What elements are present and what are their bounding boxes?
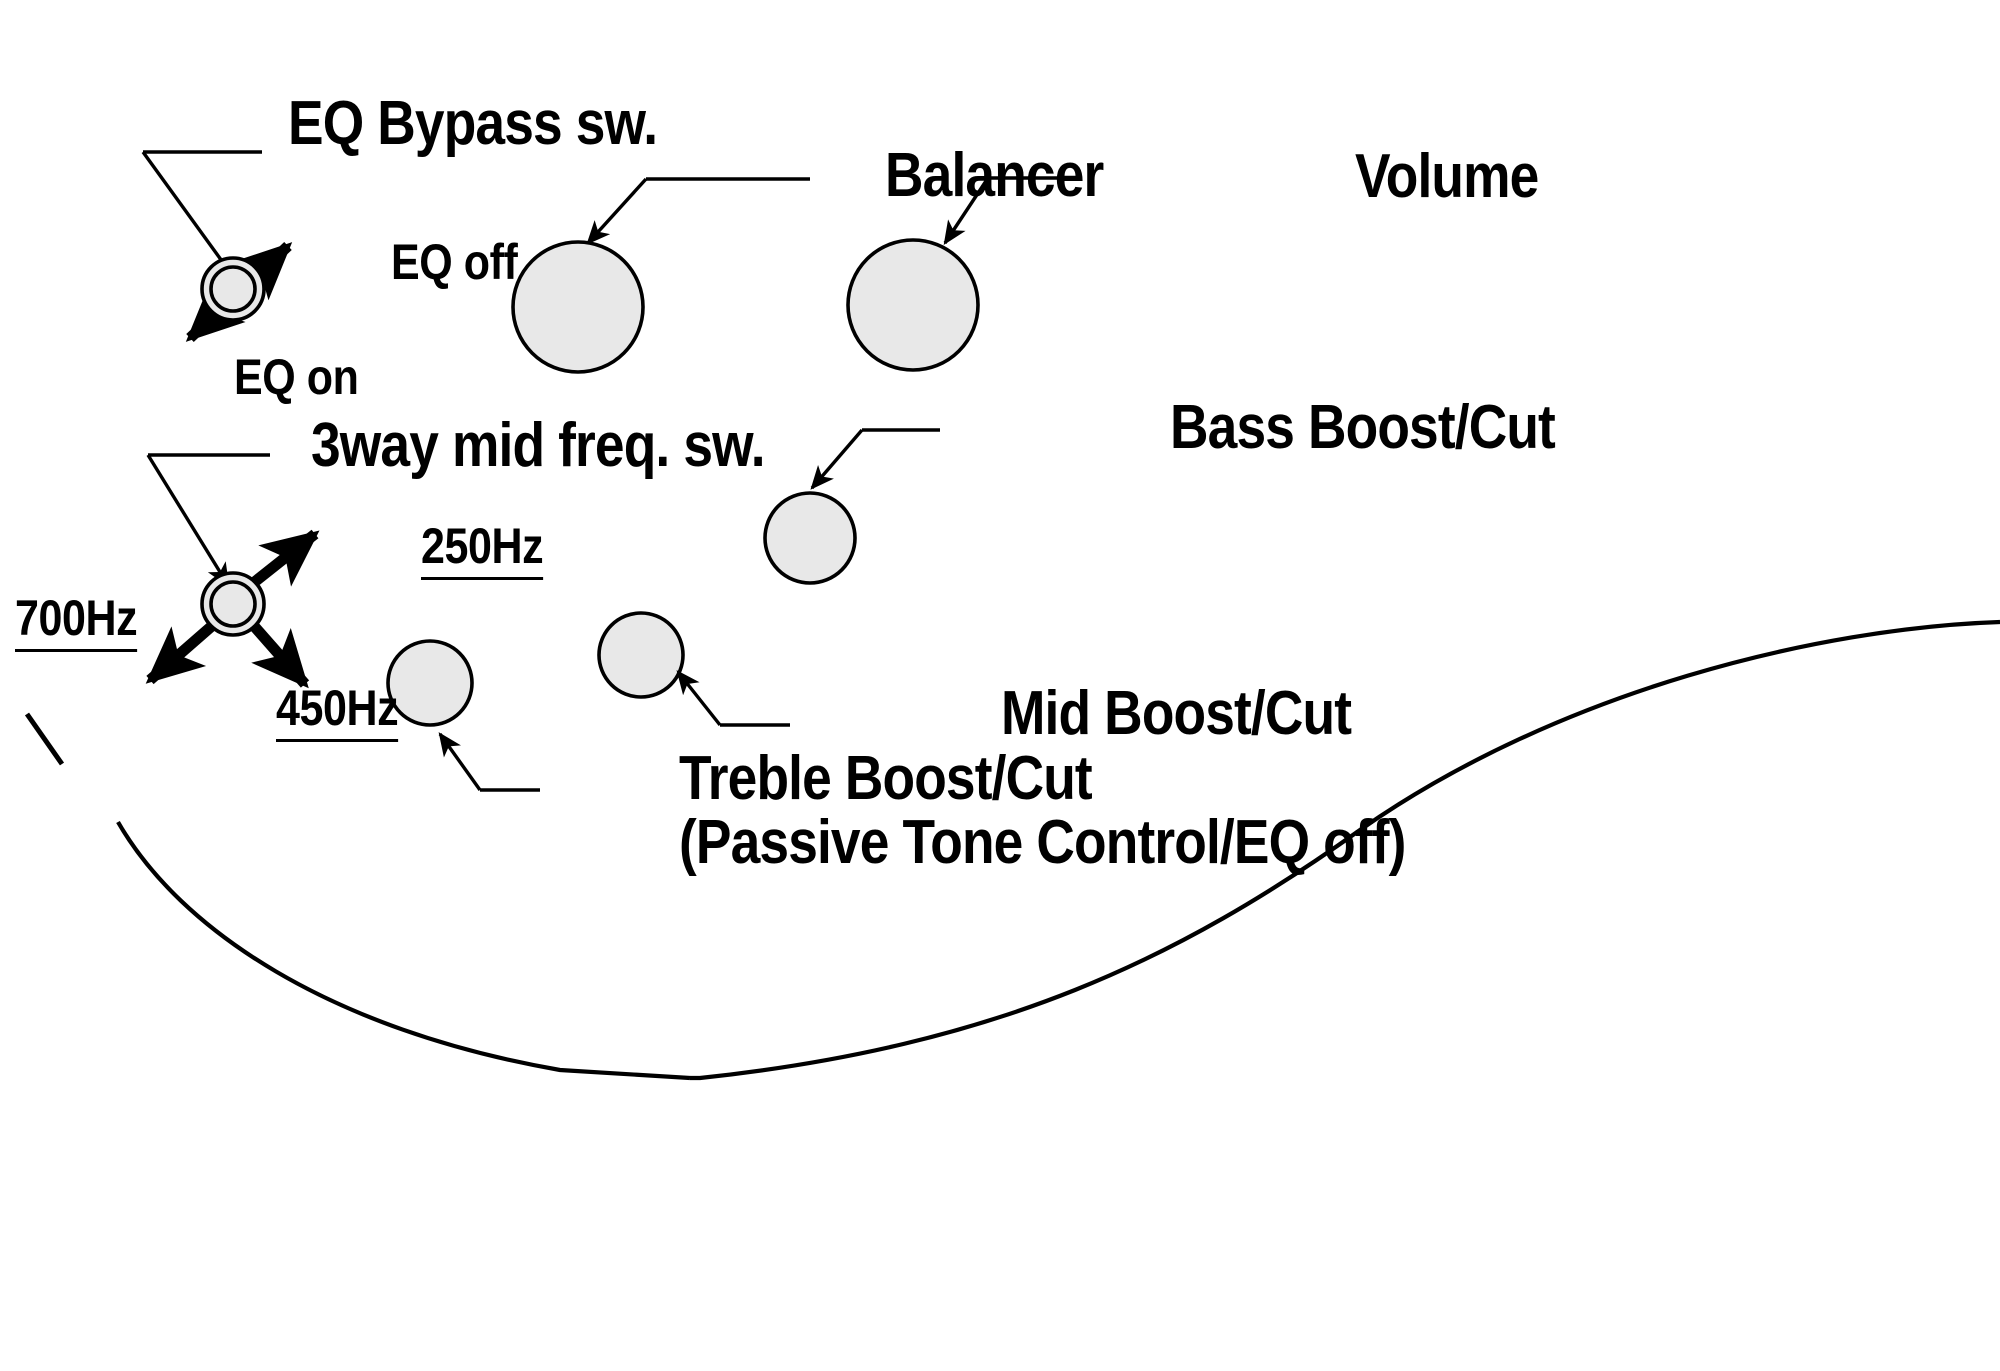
mid-freq-switch-inner[interactable] bbox=[211, 582, 255, 626]
leader-treble-arrow bbox=[440, 734, 480, 790]
label-volume: Volume bbox=[1355, 146, 1538, 208]
label-passive-tone-control: (Passive Tone Control/EQ off) bbox=[679, 812, 1406, 874]
bass-knob[interactable] bbox=[765, 493, 855, 583]
balancer-knob[interactable] bbox=[513, 242, 643, 372]
label-freq-700hz: 700Hz bbox=[15, 593, 137, 652]
label-eq-bypass-sw: EQ Bypass sw. bbox=[288, 93, 657, 155]
label-freq-250hz: 250Hz bbox=[421, 521, 543, 580]
volume-knob[interactable] bbox=[848, 240, 978, 370]
treble-knob[interactable] bbox=[388, 641, 472, 725]
leader-balancer-arrow bbox=[588, 179, 646, 243]
leader-mid-arrow bbox=[678, 672, 720, 725]
leader-midfreq-arrow bbox=[148, 455, 228, 585]
label-freq-450hz: 450Hz bbox=[276, 683, 398, 742]
midfreq-arrow-250 bbox=[252, 534, 315, 584]
body-outline-stub bbox=[27, 714, 62, 764]
midfreq-arrow-450 bbox=[254, 626, 305, 684]
label-3way-mid-freq-sw: 3way mid freq. sw. bbox=[311, 415, 765, 477]
label-eq-on: EQ on bbox=[234, 352, 358, 402]
label-eq-off: EQ off bbox=[391, 237, 517, 287]
label-mid-boost-cut: Mid Boost/Cut bbox=[1001, 683, 1351, 745]
label-bass-boost-cut: Bass Boost/Cut bbox=[1170, 397, 1555, 459]
diagram-canvas: EQ Bypass sw. EQ off EQ on Balancer Volu… bbox=[0, 0, 2000, 1371]
label-balancer: Balancer bbox=[885, 145, 1103, 207]
mid-knob[interactable] bbox=[599, 613, 683, 697]
body-outline-lower bbox=[118, 822, 690, 1078]
leader-bass-arrow bbox=[812, 430, 862, 488]
label-treble-boost-cut: Treble Boost/Cut bbox=[679, 748, 1092, 810]
eq-bypass-switch-inner[interactable] bbox=[211, 267, 255, 311]
midfreq-arrow-700 bbox=[150, 625, 213, 680]
